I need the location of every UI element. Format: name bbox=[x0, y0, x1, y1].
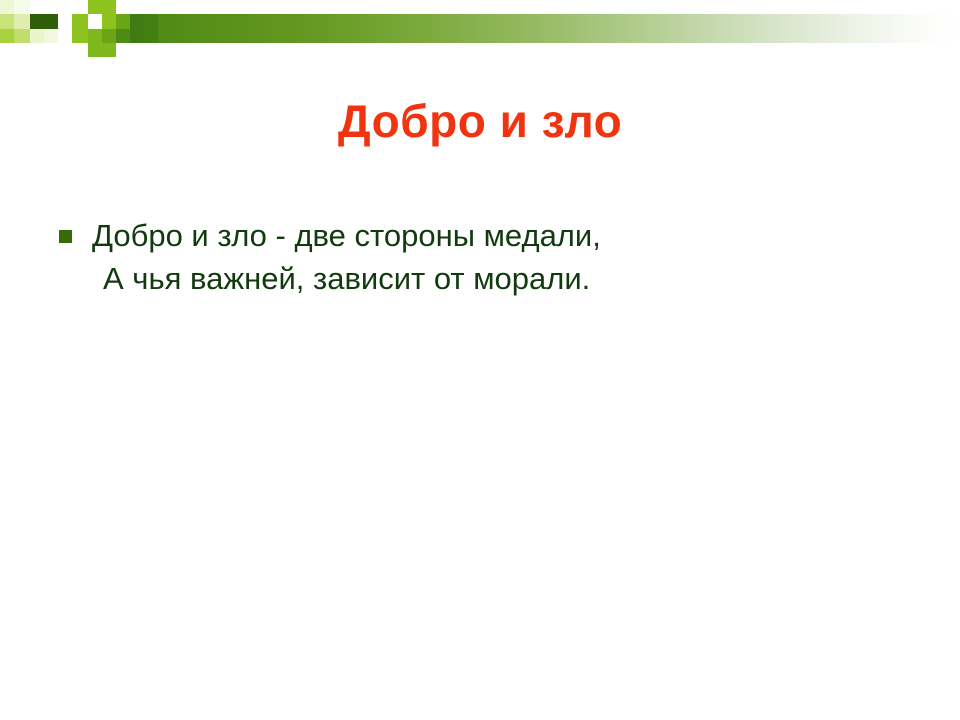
checker-cell bbox=[116, 14, 130, 29]
checker-cell bbox=[72, 29, 88, 43]
checker-cell bbox=[58, 14, 72, 29]
checker-cell bbox=[58, 29, 72, 43]
checker-cell bbox=[88, 43, 102, 57]
checker-cell bbox=[88, 0, 102, 14]
checker-cell bbox=[130, 14, 144, 29]
square-bullet-icon bbox=[59, 230, 72, 243]
checker-cell bbox=[102, 14, 116, 29]
checker-cell bbox=[44, 29, 58, 43]
bullet-text-line-2: А чья важней, зависит от морали. bbox=[92, 258, 916, 299]
checker-cell bbox=[88, 14, 102, 29]
checker-cell bbox=[116, 0, 130, 14]
header-decoration bbox=[0, 0, 960, 66]
list-item: Добро и зло - две стороны медали, А чья … bbox=[56, 215, 916, 299]
checker-cell bbox=[14, 0, 30, 14]
checker-cell bbox=[30, 29, 44, 43]
checker-cell bbox=[102, 29, 116, 43]
slide-canvas: Добро и зло Добро и зло - две стороны ме… bbox=[0, 0, 960, 720]
checker-cell bbox=[0, 29, 14, 43]
checker-cell bbox=[144, 29, 158, 43]
checker-cell bbox=[58, 0, 72, 14]
checker-cell bbox=[102, 0, 116, 14]
slide-title: Добро и зло bbox=[0, 96, 960, 147]
checker-cell bbox=[0, 14, 14, 29]
checker-cell bbox=[72, 14, 88, 29]
checker-cell bbox=[72, 43, 88, 57]
bullet-text-line-1: Добро и зло - две стороны медали, bbox=[92, 215, 916, 256]
checker-cell bbox=[0, 0, 14, 14]
checker-cell bbox=[14, 29, 30, 43]
slide-body: Добро и зло - две стороны медали, А чья … bbox=[56, 215, 916, 299]
checker-cell bbox=[102, 43, 116, 57]
checker-cell bbox=[44, 0, 58, 14]
checker-cell bbox=[116, 29, 130, 43]
checker-cell bbox=[130, 29, 144, 43]
checker-cell bbox=[44, 14, 58, 29]
header-checker-pattern bbox=[0, 0, 180, 66]
checker-cell bbox=[72, 0, 88, 14]
checker-cell bbox=[88, 29, 102, 43]
checker-cell bbox=[30, 14, 44, 29]
checker-cell bbox=[14, 14, 30, 29]
checker-cell bbox=[144, 14, 158, 29]
